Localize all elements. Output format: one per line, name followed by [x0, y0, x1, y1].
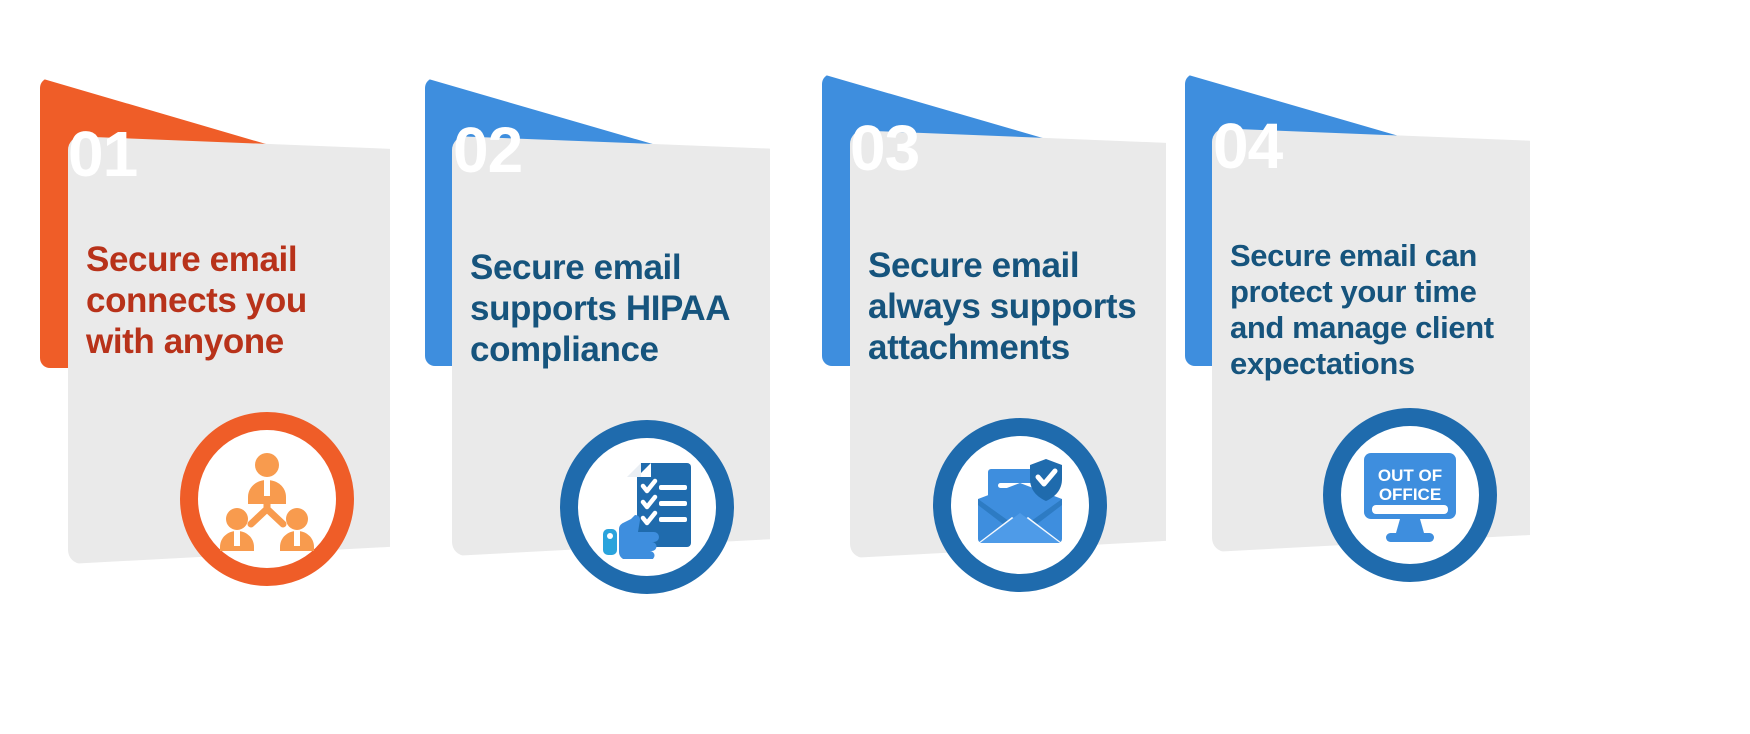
info-card-02: 02 Secure email supports HIPAA complianc… [380, 0, 780, 734]
card-number-04: 04 [1213, 114, 1282, 178]
info-card-01: 01 Secure email connects you with anyone [0, 0, 400, 734]
screen-text-line1: OUT OF [1378, 466, 1442, 485]
card-text-block-02: Secure email supports HIPAA compliance [470, 248, 750, 371]
card-number-01: 01 [68, 122, 137, 186]
card-number-03: 03 [850, 116, 919, 180]
infographic-board: 01 Secure email connects you with anyone [0, 0, 1750, 734]
card-text-block-01: Secure email connects you with anyone [86, 240, 352, 363]
card-title-04: Secure email can protect your time and m… [1230, 238, 1510, 382]
checklist-thumbsup-icon [560, 420, 734, 594]
secure-envelope-icon [933, 418, 1107, 592]
card-number-02: 02 [453, 118, 522, 182]
info-card-04: 04 Secure email can protect your time an… [1140, 0, 1540, 734]
card-title-02: Secure email supports HIPAA compliance [470, 248, 750, 371]
out-of-office-monitor-icon: OUT OF OFFICE [1323, 408, 1497, 582]
people-network-icon [180, 412, 354, 586]
card-title-03: Secure email always supports attachments [868, 246, 1154, 369]
card-text-block-03: Secure email always supports attachments [868, 246, 1154, 369]
info-card-03: 03 Secure email always supports attachme… [760, 0, 1160, 734]
card-title-01: Secure email connects you with anyone [86, 240, 352, 363]
card-text-block-04: Secure email can protect your time and m… [1230, 238, 1510, 382]
screen-text-line2: OFFICE [1379, 485, 1441, 504]
